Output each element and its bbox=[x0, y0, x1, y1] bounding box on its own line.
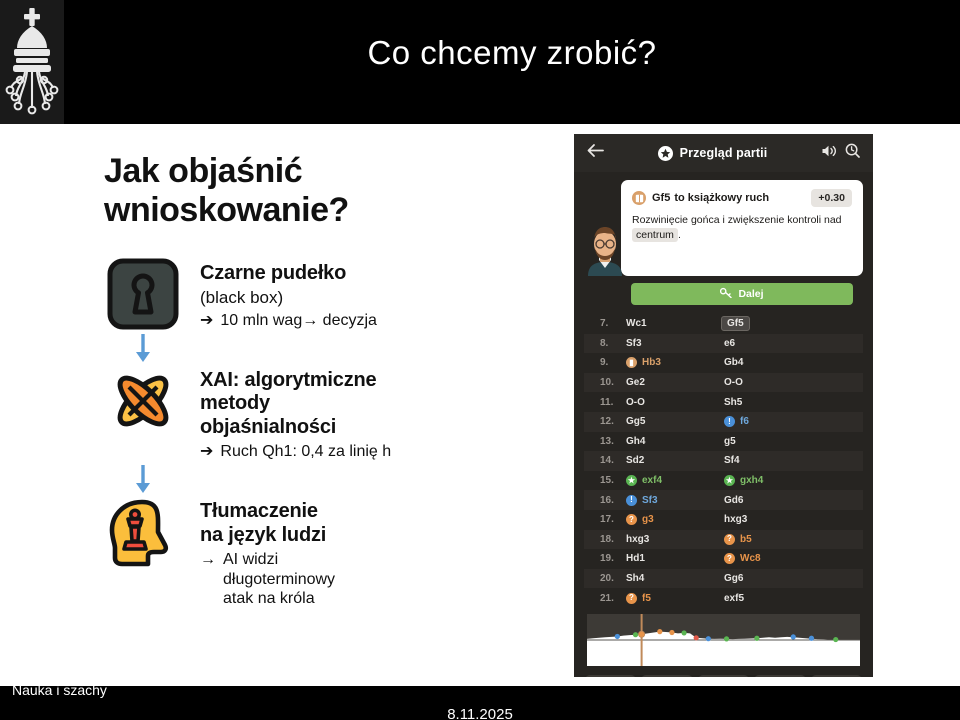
next-button-label: Dalej bbox=[738, 288, 763, 300]
coach-message-bubble: Gf5to książkowy ruch +0.30 Rozwinięcie g… bbox=[621, 180, 863, 276]
step-title: Czarne pudełko bbox=[200, 262, 377, 286]
move-white[interactable]: Sf3 bbox=[626, 338, 724, 349]
move-san[interactable]: gxh4 bbox=[740, 475, 763, 486]
move-black[interactable]: hxg3 bbox=[724, 514, 822, 525]
move-white[interactable]: O-O bbox=[626, 397, 724, 408]
move-san[interactable]: Gg5 bbox=[626, 416, 645, 427]
orange-cross-xai-icon bbox=[104, 365, 182, 437]
move-san[interactable]: Gf5 bbox=[721, 316, 750, 331]
eval-marker-dot bbox=[639, 632, 644, 637]
move-badge-good-icon: ! bbox=[626, 495, 637, 506]
move-list[interactable]: 7.Wc1Gf58.Sf3e69.▮Hb3Gb410.Ge2O-O11.O-OS… bbox=[584, 314, 863, 608]
move-san[interactable]: Sh4 bbox=[626, 573, 644, 584]
move-white[interactable]: ?f5 bbox=[626, 593, 724, 604]
move-black[interactable]: e6 bbox=[724, 338, 822, 349]
move-row[interactable]: 8.Sf3e6 bbox=[584, 334, 863, 354]
step-human-translation: Tłumaczenie na język ludzi → AI widzi dł… bbox=[104, 496, 534, 609]
eval-marker-dot bbox=[754, 636, 759, 641]
phone-mockup: Przegląd partii bbox=[574, 134, 873, 677]
eval-marker-dot bbox=[694, 635, 699, 640]
move-badge-book-icon: ▮ bbox=[626, 357, 637, 368]
eval-marker-dot bbox=[633, 632, 638, 637]
move-badge-dub-icon: ? bbox=[724, 534, 735, 545]
move-san[interactable]: hxg3 bbox=[724, 514, 747, 525]
move-san[interactable]: Sd2 bbox=[626, 455, 644, 466]
move-black[interactable]: !f6 bbox=[724, 416, 822, 427]
page-title: Co chcemy zrobić? bbox=[64, 0, 960, 124]
move-number: 12. bbox=[600, 416, 626, 427]
move-white[interactable]: ★exf4 bbox=[626, 475, 724, 486]
bubble-keyword-chip: centrum bbox=[632, 228, 678, 242]
eval-marker-dot bbox=[833, 637, 838, 642]
note-text: 10 mln wag→ decyzja bbox=[220, 311, 377, 331]
move-white[interactable]: Hd1 bbox=[626, 553, 724, 564]
move-row[interactable]: 18.hxg3?b5 bbox=[584, 530, 863, 550]
move-san[interactable]: Wc8 bbox=[740, 553, 761, 564]
move-san[interactable]: exf5 bbox=[724, 593, 744, 604]
app-body: Gf5to książkowy ruch +0.30 Rozwinięcie g… bbox=[574, 172, 873, 608]
previous-move-button[interactable] bbox=[641, 675, 692, 677]
move-white[interactable]: Ge2 bbox=[626, 377, 724, 388]
move-white[interactable]: Gg5 bbox=[626, 416, 724, 427]
eval-area bbox=[587, 632, 860, 666]
eval-marker-dot bbox=[791, 634, 796, 639]
bubble-move-san: Gf5 bbox=[652, 192, 670, 204]
move-row[interactable]: 7.Wc1Gf5 bbox=[584, 314, 863, 334]
slide-header: Co chcemy zrobić? bbox=[0, 0, 960, 124]
step-note: ➔ 10 mln wag→ decyzja bbox=[200, 311, 377, 331]
move-number: 8. bbox=[600, 338, 626, 349]
footer-brand: Nauka i szachy bbox=[12, 682, 107, 698]
move-san[interactable]: Gh4 bbox=[626, 436, 645, 447]
move-san[interactable]: Sh5 bbox=[724, 397, 742, 408]
move-number: 7. bbox=[600, 318, 626, 329]
note-arrow-icon: → bbox=[200, 550, 216, 609]
skip-to-end-button[interactable] bbox=[811, 675, 862, 677]
move-number: 19. bbox=[600, 553, 626, 564]
explainability-infographic: Jak objaśnić wnioskowanie? Czarne pudełk… bbox=[104, 152, 534, 609]
move-san[interactable]: f5 bbox=[642, 593, 651, 604]
move-number: 11. bbox=[600, 397, 626, 408]
book-move-icon bbox=[632, 191, 646, 205]
move-san[interactable]: Ge2 bbox=[626, 377, 645, 388]
arrow-down-icon-1 bbox=[104, 331, 182, 365]
move-black[interactable]: g5 bbox=[724, 436, 822, 447]
move-san[interactable]: Sf4 bbox=[724, 455, 740, 466]
move-san[interactable]: Gg6 bbox=[724, 573, 743, 584]
key-icon bbox=[720, 287, 732, 301]
arrow-down-icon-2 bbox=[104, 462, 182, 496]
move-row[interactable]: 20.Sh4Gg6 bbox=[584, 569, 863, 589]
evaluation-graph[interactable] bbox=[587, 614, 860, 666]
move-black[interactable]: O-O bbox=[724, 377, 822, 388]
move-row[interactable]: 19.Hd1?Wc8 bbox=[584, 549, 863, 569]
move-white[interactable]: Gh4 bbox=[626, 436, 724, 447]
black-box-keyhole-icon bbox=[104, 258, 182, 330]
bubble-body-text: Rozwinięcie gońca i zwiększenie kontroli… bbox=[632, 213, 852, 243]
evaluation-graph-wrap bbox=[574, 608, 873, 666]
note-text: AI widzi długoterminowy atak na króla bbox=[223, 550, 335, 609]
bubble-text-after: . bbox=[678, 229, 681, 241]
move-black[interactable]: Gd6 bbox=[724, 495, 822, 506]
move-white[interactable]: hxg3 bbox=[626, 534, 724, 545]
slide: Co chcemy zrobić? Jak objaśnić wnioskowa… bbox=[0, 0, 960, 720]
move-san[interactable]: Sf3 bbox=[642, 495, 658, 506]
move-black[interactable]: ★gxh4 bbox=[724, 475, 822, 486]
move-row[interactable]: 21.?f5exf5 bbox=[584, 588, 863, 608]
move-badge-good-icon: ! bbox=[724, 416, 735, 427]
step-title: Tłumaczenie na język ludzi bbox=[200, 500, 335, 547]
move-black[interactable]: ?b5 bbox=[724, 534, 822, 545]
note-text: Ruch Qh1: 0,4 za linię h bbox=[220, 442, 391, 462]
move-san[interactable]: Sf3 bbox=[626, 338, 642, 349]
bubble-header: Gf5to książkowy ruch +0.30 bbox=[632, 189, 852, 207]
move-white[interactable]: ?g3 bbox=[626, 514, 724, 525]
step-xai-text: XAI: algorytmiczne metody objaśnialności… bbox=[200, 365, 391, 462]
playback-controls bbox=[574, 666, 873, 677]
chess-king-circuit-logo-icon bbox=[5, 4, 59, 121]
move-badge-dub-icon: ? bbox=[626, 514, 637, 525]
play-button[interactable] bbox=[698, 675, 749, 677]
move-row[interactable]: 10.Ge2O-O bbox=[584, 373, 863, 393]
step-note: ➔ Ruch Qh1: 0,4 za linię h bbox=[200, 442, 391, 462]
move-number: 15. bbox=[600, 475, 626, 486]
steps-list: Czarne pudełko (black box) ➔ 10 mln wag→… bbox=[104, 258, 534, 609]
infographic-heading: Jak objaśnić wnioskowanie? bbox=[104, 152, 534, 230]
move-black[interactable]: Gf5 bbox=[724, 316, 822, 331]
app-title: Przegląd partii bbox=[680, 146, 768, 160]
move-number: 21. bbox=[600, 593, 626, 604]
move-number: 17. bbox=[600, 514, 626, 525]
move-badge-best-icon: ★ bbox=[724, 475, 735, 486]
coach-message-row: Gf5to książkowy ruch +0.30 Rozwinięcie g… bbox=[584, 180, 863, 276]
move-row[interactable]: 9.▮Hb3Gb4 bbox=[584, 353, 863, 373]
move-san[interactable]: Gb4 bbox=[724, 357, 743, 368]
search-clock-icon[interactable] bbox=[845, 143, 860, 163]
head-with-chess-piece-icon bbox=[104, 496, 182, 574]
user-avatar-icon bbox=[584, 222, 626, 276]
move-black[interactable]: Gb4 bbox=[724, 357, 822, 368]
move-white[interactable]: Wc1 bbox=[626, 318, 724, 329]
next-move-button[interactable] bbox=[754, 675, 805, 677]
move-number: 18. bbox=[600, 534, 626, 545]
move-white[interactable]: Sd2 bbox=[626, 455, 724, 466]
move-number: 9. bbox=[600, 357, 626, 368]
move-san[interactable]: e6 bbox=[724, 338, 735, 349]
move-san[interactable]: hxg3 bbox=[626, 534, 649, 545]
move-white[interactable]: Sh4 bbox=[626, 573, 724, 584]
move-number: 14. bbox=[600, 455, 626, 466]
star-icon bbox=[658, 146, 673, 161]
step-subtitle: (black box) bbox=[200, 288, 377, 308]
move-number: 10. bbox=[600, 377, 626, 388]
bubble-move-text: Gf5to książkowy ruch bbox=[652, 192, 769, 204]
step-note: → AI widzi długoterminowy atak na króla bbox=[200, 550, 335, 609]
move-row[interactable]: 14.Sd2Sf4 bbox=[584, 451, 863, 471]
next-button[interactable]: Dalej bbox=[631, 283, 853, 305]
bubble-text-before: Rozwinięcie gońca i zwiększenie kontroli… bbox=[632, 214, 842, 226]
move-black[interactable]: Sh5 bbox=[724, 397, 822, 408]
note-arrow-icon: ➔ bbox=[200, 311, 213, 331]
move-san[interactable]: O-O bbox=[626, 397, 645, 408]
move-white[interactable]: ▮Hb3 bbox=[626, 357, 724, 368]
move-number: 16. bbox=[600, 495, 626, 506]
speaker-icon[interactable] bbox=[821, 144, 837, 163]
move-white[interactable]: !Sf3 bbox=[626, 495, 724, 506]
move-badge-dub-icon: ? bbox=[724, 553, 735, 564]
step-xai: XAI: algorytmiczne metody objaśnialności… bbox=[104, 365, 534, 462]
move-san[interactable]: f6 bbox=[740, 416, 749, 427]
move-row[interactable]: 15.★exf4★gxh4 bbox=[584, 471, 863, 491]
move-row[interactable]: 11.O-OSh5 bbox=[584, 392, 863, 412]
move-san[interactable]: Wc1 bbox=[626, 318, 647, 329]
move-san[interactable]: Gd6 bbox=[724, 495, 743, 506]
move-black[interactable]: ?Wc8 bbox=[724, 553, 822, 564]
step-black-box-text: Czarne pudełko (black box) ➔ 10 mln wag→… bbox=[200, 258, 377, 331]
step-human-translation-text: Tłumaczenie na język ludzi → AI widzi dł… bbox=[200, 496, 335, 609]
move-san[interactable]: b5 bbox=[740, 534, 752, 545]
move-san[interactable]: Hb3 bbox=[642, 357, 661, 368]
move-number: 20. bbox=[600, 573, 626, 584]
eval-marker-dot bbox=[669, 630, 674, 635]
move-row[interactable]: 12.Gg5!f6 bbox=[584, 412, 863, 432]
note-arrow-icon: ➔ bbox=[200, 442, 213, 462]
eval-marker-dot bbox=[681, 630, 686, 635]
footer-date: 8.11.2025 bbox=[0, 706, 960, 720]
app-header: Przegląd partii bbox=[574, 134, 873, 172]
move-san[interactable]: g3 bbox=[642, 514, 654, 525]
move-san[interactable]: Hd1 bbox=[626, 553, 645, 564]
eval-marker-dot bbox=[724, 636, 729, 641]
bubble-move-label: to książkowy ruch bbox=[674, 192, 769, 204]
eval-marker-dot bbox=[657, 629, 662, 634]
app-title-group: Przegląd partii bbox=[612, 146, 813, 161]
move-row[interactable]: 17.?g3hxg3 bbox=[584, 510, 863, 530]
move-row[interactable]: 13.Gh4g5 bbox=[584, 432, 863, 452]
evaluation-badge: +0.30 bbox=[811, 189, 852, 207]
back-arrow-icon[interactable] bbox=[587, 143, 604, 163]
move-black[interactable]: Sf4 bbox=[724, 455, 822, 466]
eval-marker-dot bbox=[615, 634, 620, 639]
move-black[interactable]: exf5 bbox=[724, 593, 822, 604]
eval-marker-dot bbox=[809, 636, 814, 641]
skip-to-start-button[interactable] bbox=[585, 675, 636, 677]
eval-marker-dot bbox=[706, 636, 711, 641]
move-san[interactable]: exf4 bbox=[642, 475, 662, 486]
move-san[interactable]: g5 bbox=[724, 436, 736, 447]
step-title: XAI: algorytmiczne metody objaśnialności bbox=[200, 369, 391, 440]
move-badge-best-icon: ★ bbox=[626, 475, 637, 486]
move-number: 13. bbox=[600, 436, 626, 447]
step-black-box: Czarne pudełko (black box) ➔ 10 mln wag→… bbox=[104, 258, 534, 331]
logo bbox=[0, 0, 64, 124]
move-row[interactable]: 16.!Sf3Gd6 bbox=[584, 490, 863, 510]
move-black[interactable]: Gg6 bbox=[724, 573, 822, 584]
slide-footer: Nauka i szachy 8.11.2025 bbox=[0, 686, 960, 720]
move-san[interactable]: O-O bbox=[724, 377, 743, 388]
move-badge-dub-icon: ? bbox=[626, 593, 637, 604]
